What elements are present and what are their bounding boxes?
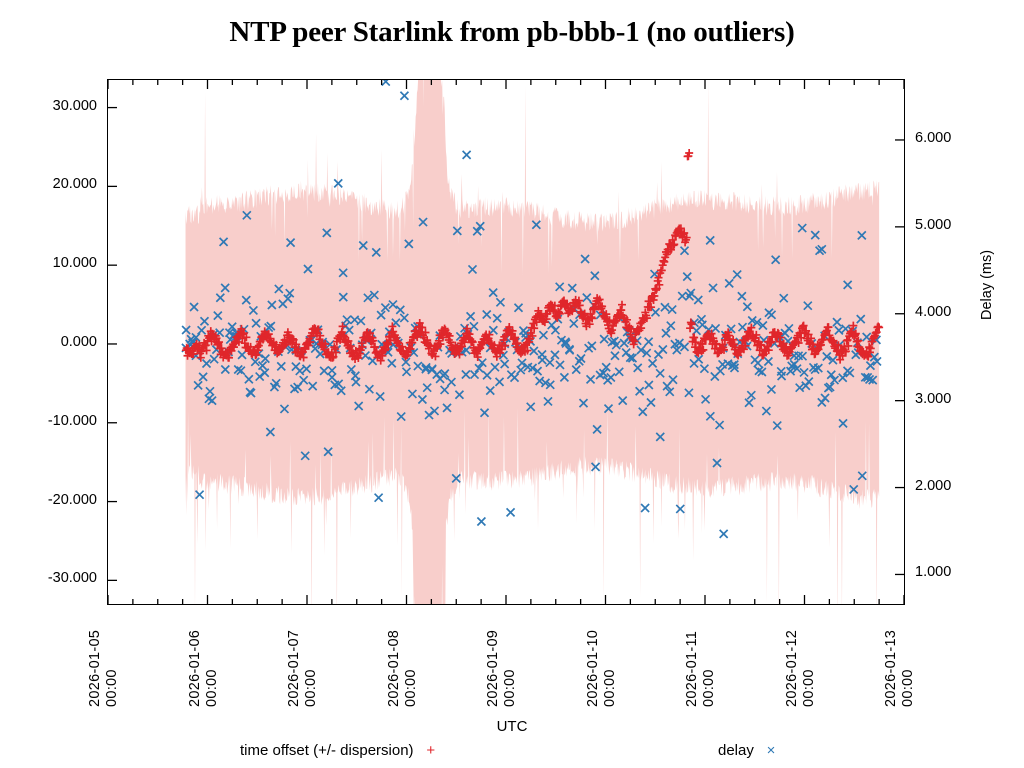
legend-entry-offset: time offset (+/- dispersion) + — [240, 741, 444, 759]
delay-marker — [463, 151, 471, 159]
y-tick-right: 2.000 — [915, 478, 979, 494]
y-tick-left: 0.000 — [35, 334, 97, 350]
delay-marker — [375, 494, 383, 502]
y-tick-left: -30.000 — [35, 570, 97, 586]
x-tick-label: 2026-01-1200:00 — [784, 630, 800, 707]
delay-marker — [507, 508, 515, 516]
delay-marker — [400, 92, 408, 100]
legend-entry-delay: delay × — [718, 741, 784, 759]
y-tick-right: 5.000 — [915, 217, 979, 233]
x-tick-label: 2026-01-0600:00 — [187, 630, 203, 707]
y-tick-left: 30.000 — [35, 98, 97, 114]
y-tick-left: -20.000 — [35, 492, 97, 508]
chart-legend: time offset (+/- dispersion) + delay × — [0, 738, 1024, 762]
x-tick-label: 2026-01-1000:00 — [585, 630, 601, 707]
delay-marker — [382, 80, 390, 86]
y-tick-left: -10.000 — [35, 413, 97, 429]
x-axis-title: UTC — [0, 718, 1024, 735]
x-tick-label: 2026-01-0700:00 — [286, 630, 302, 707]
y-tick-left: 10.000 — [35, 255, 97, 271]
delay-marker — [334, 179, 342, 187]
x-tick-label: 2026-01-0500:00 — [87, 630, 103, 707]
x-tick-label: 2026-01-1300:00 — [883, 630, 899, 707]
delay-marker — [720, 530, 728, 538]
x-tick-label: 2026-01-1100:00 — [684, 631, 700, 707]
x-tick-label: 2026-01-0900:00 — [485, 630, 501, 707]
plot-area — [107, 79, 905, 605]
y-tick-left: 20.000 — [35, 176, 97, 192]
y-tick-right: 6.000 — [915, 130, 979, 146]
plot-canvas — [108, 80, 904, 604]
chart-title: NTP peer Starlink from pb-bbb-1 (no outl… — [0, 16, 1024, 49]
chart-root: NTP peer Starlink from pb-bbb-1 (no outl… — [0, 0, 1024, 768]
y-tick-right: 4.000 — [915, 304, 979, 320]
delay-marker — [477, 518, 485, 526]
y-tick-right: 3.000 — [915, 391, 979, 407]
delay-marker — [641, 504, 649, 512]
legend-offset-label: time offset (+/- dispersion) — [240, 742, 414, 759]
cross-marker-icon: × — [758, 743, 784, 758]
y-tick-right: 1.000 — [915, 564, 979, 580]
delay-marker — [676, 505, 684, 513]
y-axis-right-label: Delay (ms) — [979, 250, 995, 320]
legend-delay-label: delay — [718, 742, 754, 759]
x-tick-label: 2026-01-0800:00 — [386, 630, 402, 707]
plus-marker-icon: + — [418, 743, 444, 758]
